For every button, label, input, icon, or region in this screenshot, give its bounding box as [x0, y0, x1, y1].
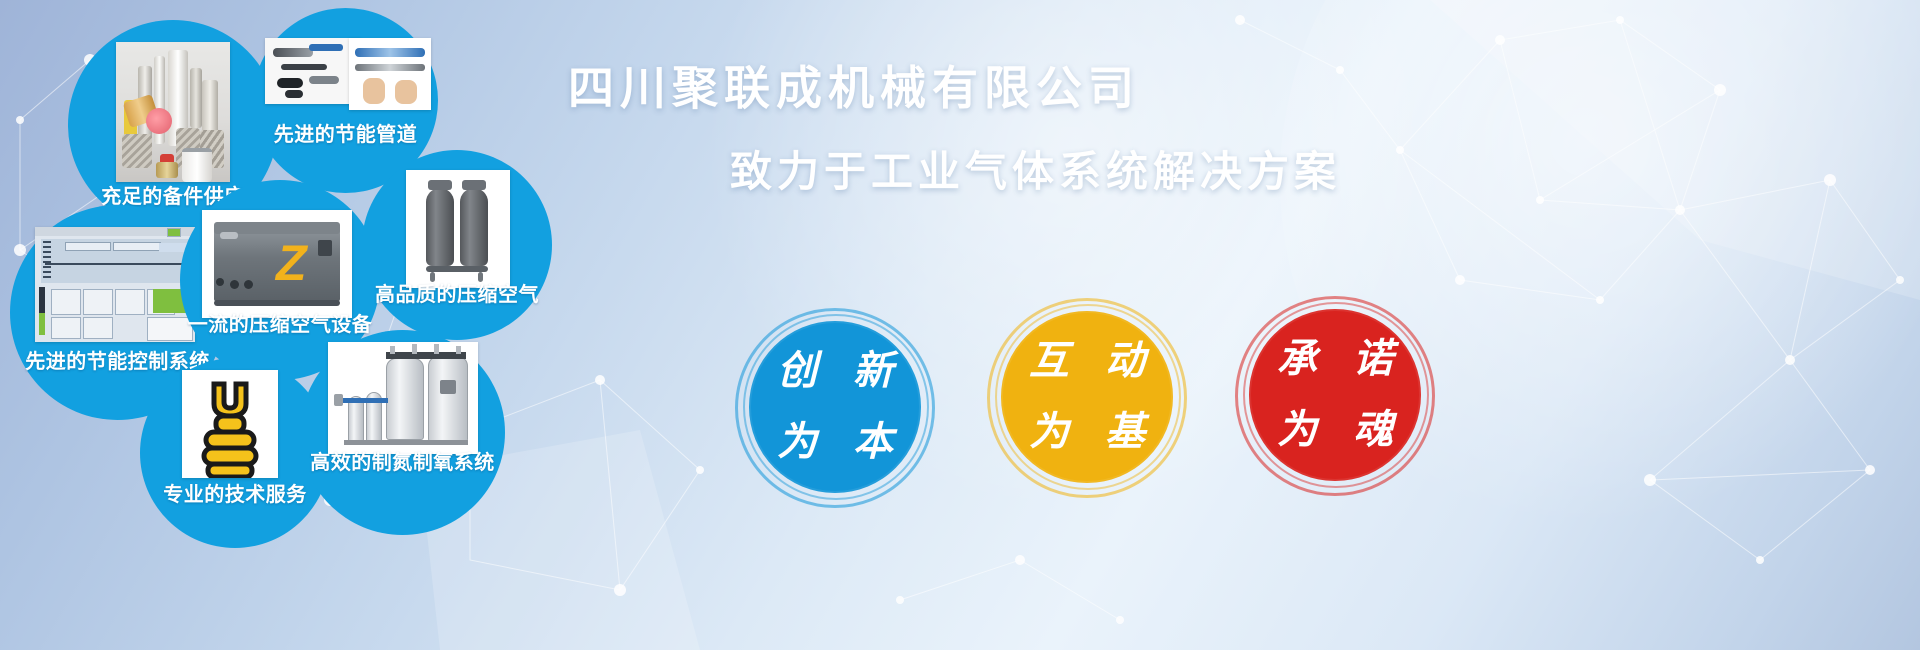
page-subtitle: 致力于工业气体系统解决方案	[730, 138, 1341, 199]
page-title: 四川聚联成机械有限公司	[568, 52, 1140, 118]
seal-char: 动	[1105, 341, 1145, 381]
seal-char: 新	[853, 351, 893, 391]
installer-hands-photo	[349, 38, 431, 110]
seal-char: 诺	[1353, 339, 1393, 379]
company-banner: 充足的备件供应	[0, 0, 1920, 650]
product-label-piping: 先进的节能管道	[253, 118, 438, 147]
filter-elements-photo	[116, 42, 230, 182]
seal-char: 为	[777, 422, 817, 462]
hmi-screen-photo	[35, 227, 195, 342]
product-circle-air-quality[interactable]: 高品质的压缩空气	[362, 150, 552, 340]
desiccant-dryer-photo	[406, 170, 510, 288]
psa-generator-photo	[328, 342, 478, 454]
product-label-air-quality: 高品质的压缩空气	[362, 278, 552, 307]
product-label-nitrogen-oxygen: 高效的制氮制氧系统	[300, 446, 505, 475]
screw-compressor-photo: Z	[202, 210, 352, 318]
product-circle-cluster: 充足的备件供应	[0, 0, 660, 650]
seal-text-interaction: 互 动 为 基	[1001, 311, 1173, 483]
seal-char: 为	[1277, 410, 1317, 450]
brand-value-seals: 创 新 为 本 互 动 为 基 承 诺 为	[735, 288, 1695, 588]
wrench-thumbsup-photo	[182, 370, 278, 478]
product-circle-nitrogen-oxygen[interactable]: 高效的制氮制氧系统	[300, 330, 505, 535]
seal-char: 为	[1029, 412, 1069, 452]
product-label-technical-service: 专业的技术服务	[140, 478, 330, 507]
seal-text-innovation: 创 新 为 本	[749, 321, 921, 493]
seal-commitment[interactable]: 承 诺 为 魂	[1235, 296, 1435, 496]
seal-char: 本	[853, 422, 893, 462]
seal-char: 创	[777, 351, 817, 391]
seal-innovation[interactable]: 创 新 为 本	[735, 308, 935, 508]
seal-char: 基	[1105, 412, 1145, 452]
seal-text-commitment: 承 诺 为 魂	[1249, 309, 1421, 481]
piping-tools-photo	[265, 38, 361, 104]
product-label-compressor: 一流的压缩空气设备	[180, 308, 380, 337]
seal-interaction[interactable]: 互 动 为 基	[987, 298, 1187, 498]
seal-char: 承	[1277, 339, 1317, 379]
seal-char: 互	[1029, 341, 1069, 381]
seal-char: 魂	[1353, 410, 1393, 450]
